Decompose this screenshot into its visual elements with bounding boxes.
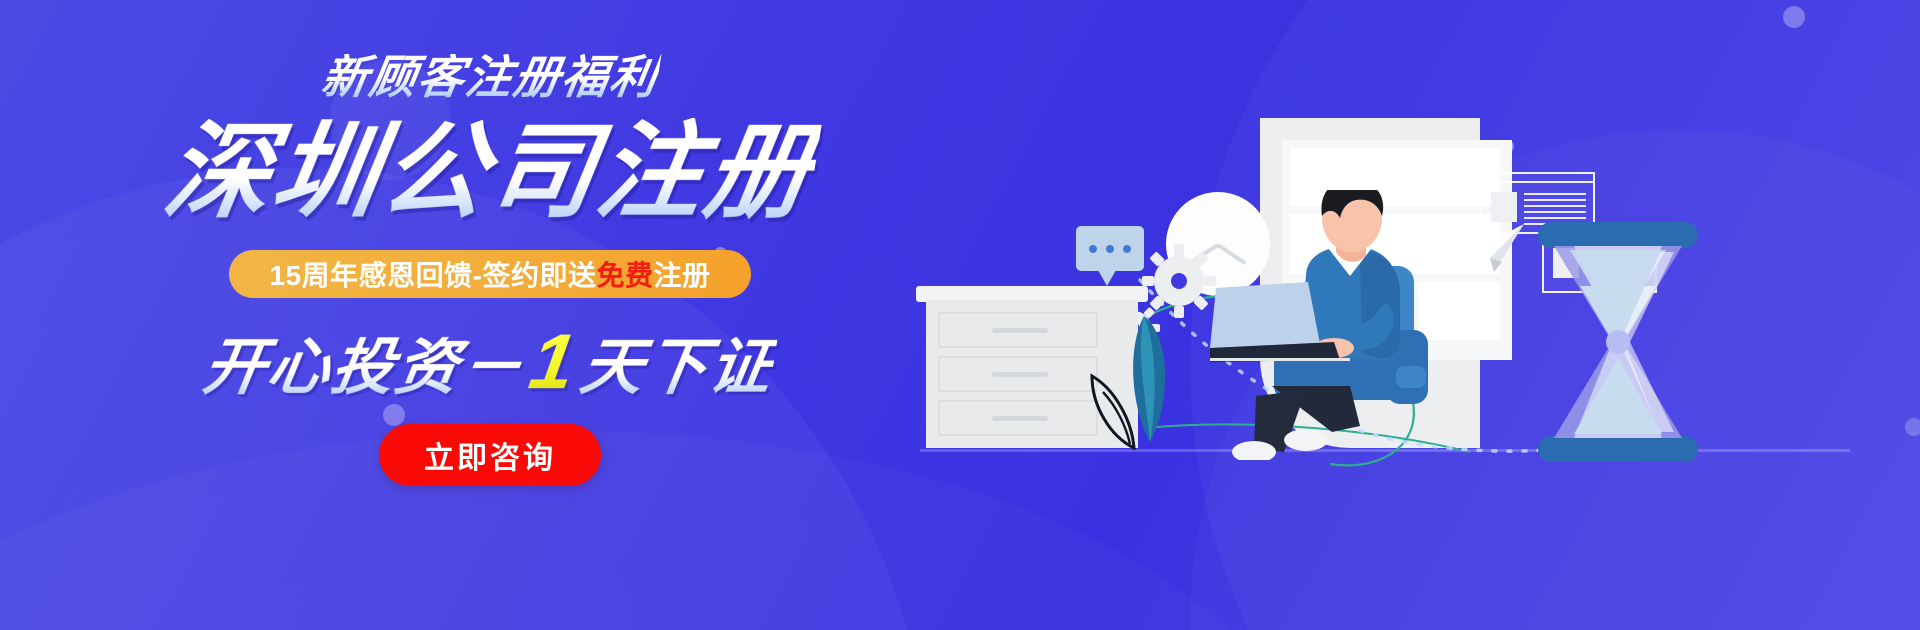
hourglass-icon [1538,222,1698,462]
consult-now-button[interactable]: 立即咨询 [379,424,601,486]
drawer-handle [992,416,1048,421]
hourglass-cap-bottom [1538,436,1698,462]
promo-badge-prefix: 15周年感恩回馈-签约即送 [269,254,596,294]
banner-copy: 新顾客注册福利 深圳公司注册 15周年感恩回馈-签约即送免费注册 开心投资－ 1… [0,0,980,630]
paper-plane-icon [1468,222,1528,274]
promo-badge-suffix: 注册 [653,254,710,294]
promo-badge: 15周年感恩回馈-签约即送免费注册 [229,250,750,298]
person-with-laptop [1210,190,1500,460]
subline-prefix: 开心投资－ [199,337,529,399]
drawer-handle [992,372,1048,377]
laptop-screen [1210,282,1320,348]
plant [1070,310,1190,450]
hourglass-center [1606,330,1630,354]
drawer-handle [992,328,1048,333]
banner-illustration [960,0,1920,630]
banner-subline: 开心投资－ 1 天下证 [199,322,781,400]
promo-badge-highlight: 免费 [596,254,653,294]
banner-eyebrow: 新顾客注册福利 [318,54,661,100]
card-thumbnail [1491,192,1517,222]
subline-suffix: 天下证 [577,337,779,399]
banner-headline: 深圳公司注册 [157,118,822,228]
consult-now-label: 立即咨询 [424,433,556,477]
hourglass-cap-top [1538,222,1698,248]
card-title-bar [1482,174,1593,183]
promo-banner: 新顾客注册福利 深圳公司注册 15周年感恩回馈-签约即送免费注册 开心投资－ 1… [0,0,1920,630]
